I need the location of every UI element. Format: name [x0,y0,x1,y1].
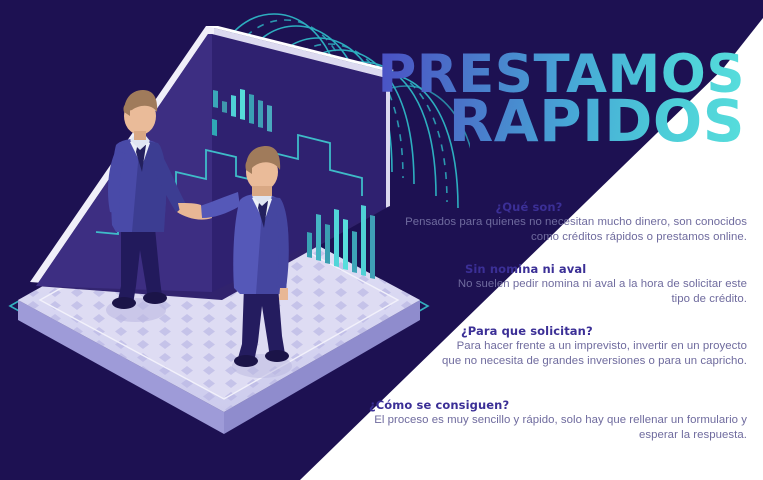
section-heading: Sin nomina ni aval [447,262,747,276]
section-body: Pensados para quienes no necesitan mucho… [395,215,747,245]
section-heading: ¿Para que solicitan? [437,324,747,338]
section-que-son: ¿Qué son? Pensados para quienes no neces… [395,200,747,245]
page-title: PRÉSTAMOS RÁPIDOS [377,50,745,149]
infographic-canvas: PRÉSTAMOS RÁPIDOS ¿Qué son? Pensados par… [0,0,763,480]
section-body: No suelen pedir nomina ni aval a la hora… [447,277,747,307]
section-heading: ¿Qué son? [395,200,747,214]
section-como-se-consiguen: ¿Cómo se consiguen? El proceso es muy se… [347,398,747,443]
section-body: Para hacer frente a un imprevisto, inver… [437,339,747,369]
small-bar-chart [212,119,217,136]
section-body: El proceso es muy sencillo y rápido, sol… [347,413,747,443]
section-heading: ¿Cómo se consiguen? [347,398,747,412]
section-para-que-solicitan: ¿Para que solicitan? Para hacer frente a… [437,324,747,369]
section-sin-nomina: Sin nomina ni aval No suelen pedir nomin… [447,262,747,307]
